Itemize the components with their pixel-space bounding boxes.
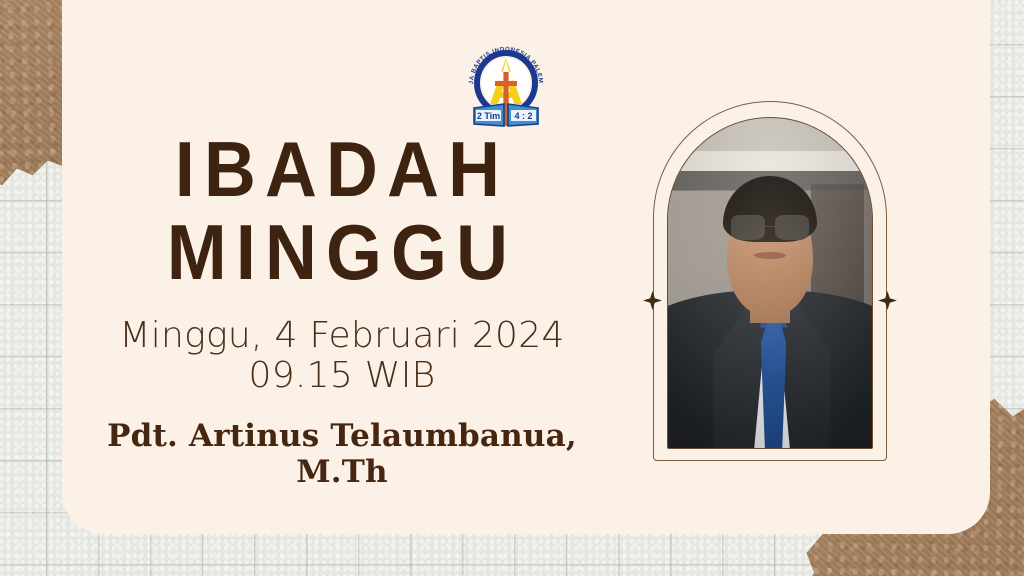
logo-book-text-right: 4 : 2 [514, 111, 532, 121]
portrait-vignette [668, 118, 872, 448]
church-logo: 2 Tim 4 : 2 GEREJA BAPTIS INDONESIA PALE… [460, 34, 552, 134]
speaker-name: Pdt. Artinus Telaumbanua, M.Th [62, 418, 622, 490]
schedule-block: Minggu, 4 Februari 2024 09.15 WIB [62, 316, 622, 397]
text-content-column: IBADAH MINGGU Minggu, 4 Februari 2024 09… [62, 132, 622, 490]
logo-book-text-left: 2 Tim [477, 111, 500, 121]
gbi-palembang-logo-icon: 2 Tim 4 : 2 GEREJA BAPTIS INDONESIA PALE… [460, 34, 552, 134]
heading-line-2: MINGGU [84, 215, 599, 290]
service-time: 09.15 WIB [62, 356, 622, 396]
portrait-photo [668, 118, 872, 448]
heading-line-1: IBADAH [84, 132, 599, 207]
portrait-photo-frame [667, 117, 873, 449]
poster-canvas: 2 Tim 4 : 2 GEREJA BAPTIS INDONESIA PALE… [0, 0, 1024, 576]
service-date: Minggu, 4 Februari 2024 [62, 316, 622, 356]
portrait-frame [653, 101, 887, 461]
